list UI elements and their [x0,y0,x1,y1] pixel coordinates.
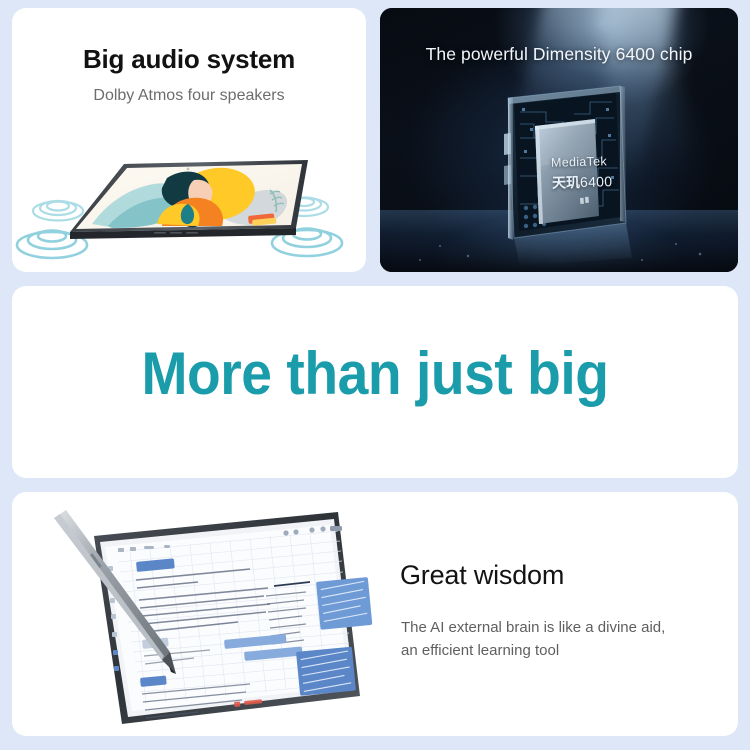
chip-model-number: 6400 [580,173,613,190]
audio-card-title: Big audio system [12,44,366,75]
chip-card-title: The powerful Dimensity 6400 chip [380,44,738,65]
chip-model-cn: 天玑 [552,174,580,191]
product-feature-page: Big audio system Dolby Atmos four speake… [0,0,750,750]
wisdom-subtitle-line-2: an efficient learning tool [401,642,559,659]
chip-model-label: 天玑6400 [552,171,613,193]
headline-banner-card: More than just big [12,286,738,478]
wisdom-card-subtitle: The AI external brain is like a divine a… [401,616,721,662]
audio-card-subtitle: Dolby Atmos four speakers [12,87,366,105]
wisdom-feature-card: Great wisdom The AI external brain is li… [12,492,738,736]
chip-brand-label: MediaTek [551,154,607,169]
tablet-sound-waves-illustration [12,128,366,272]
wisdom-card-title: Great wisdom [400,560,564,591]
wisdom-subtitle-line-1: The AI external brain is like a divine a… [401,619,665,636]
chip-feature-card: The powerful Dimensity 6400 chip [380,8,738,272]
banner-headline: More than just big [41,336,709,412]
tablet-stylus-notes-illustration [38,500,378,732]
audio-feature-card: Big audio system Dolby Atmos four speake… [12,8,366,272]
